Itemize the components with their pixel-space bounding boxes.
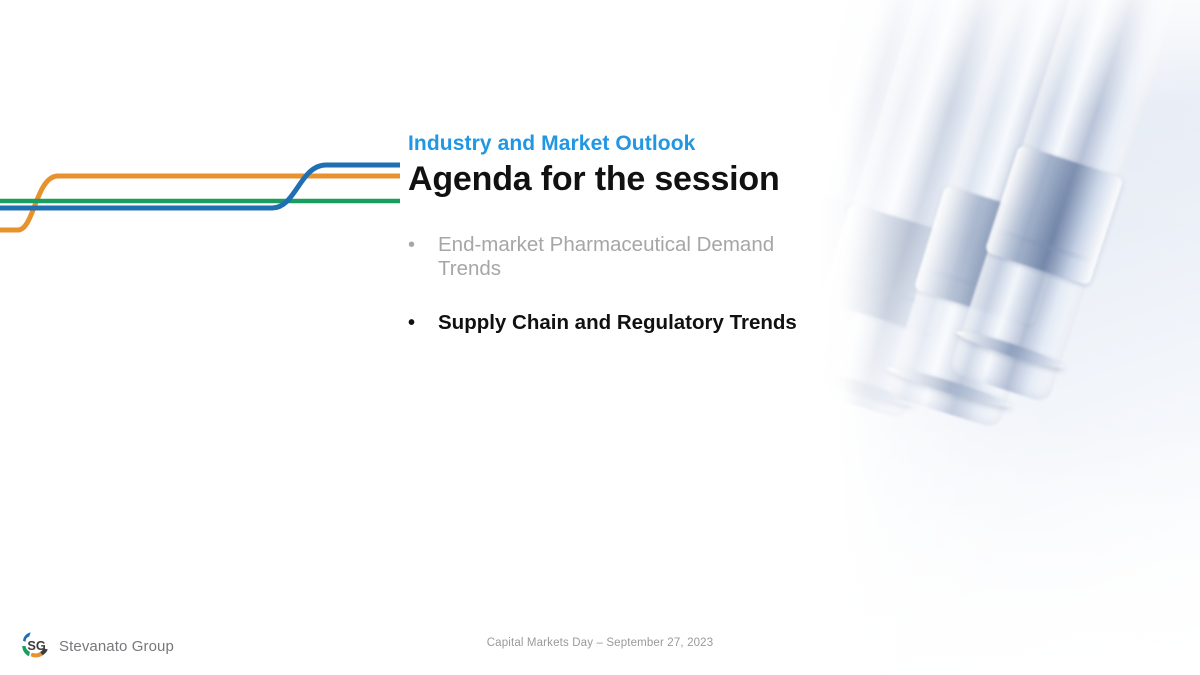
page-title: Agenda for the session <box>408 159 838 199</box>
vial-photograph <box>820 0 1200 675</box>
agenda-item-label: End-market Pharmaceutical Demand Trends <box>438 233 838 281</box>
agenda-item-end-market-demand[interactable]: • End-market Pharmaceutical Demand Trend… <box>408 233 838 281</box>
section-eyebrow: Industry and Market Outlook <box>408 132 838 156</box>
agenda-list: • End-market Pharmaceutical Demand Trend… <box>408 233 838 335</box>
slide-content: Industry and Market Outlook Agenda for t… <box>408 132 838 365</box>
agenda-item-supply-chain-regulatory[interactable]: • Supply Chain and Regulatory Trends <box>408 311 838 335</box>
agenda-item-label: Supply Chain and Regulatory Trends <box>438 311 797 335</box>
decorative-trend-lines <box>0 150 400 242</box>
bullet-icon: • <box>408 235 438 255</box>
photo-fade-overlay <box>820 0 1200 675</box>
bullet-icon: • <box>408 313 438 333</box>
footer-event-note: Capital Markets Day – September 27, 2023 <box>0 637 1200 649</box>
